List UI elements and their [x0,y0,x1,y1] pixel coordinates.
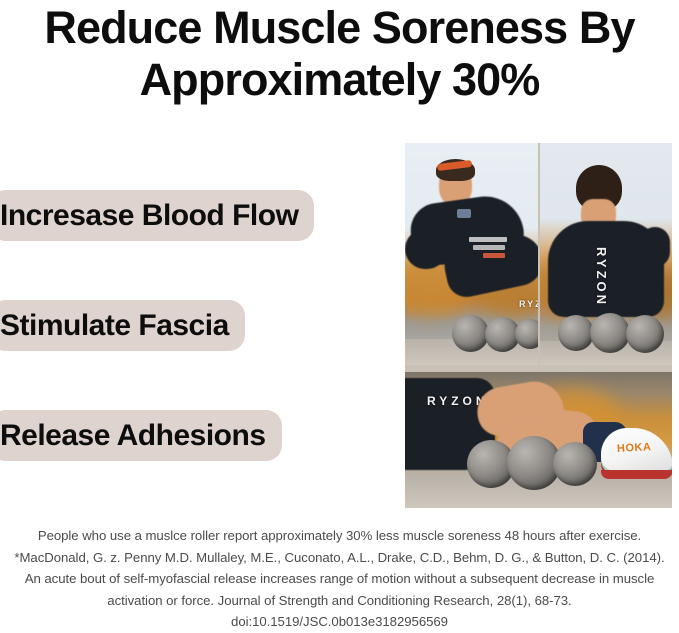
shoe-sole [601,470,672,479]
athlete-arm [405,229,447,269]
kit-sponsor-text [483,253,505,258]
collage-brand-text: RYZON [594,247,609,307]
roller-ball [452,315,489,352]
roller-ball [626,315,664,353]
photo-collage: RYZ RYZON RYZON [405,143,672,508]
roller-ball [515,319,538,349]
page-title: Reduce Muscle Soreness By Approximately … [0,2,679,106]
kit-logo [457,209,471,218]
athlete-shoulder [640,227,670,267]
shoe-brand-text: HOKA [617,441,654,455]
benefit-pill-stimulate-fascia: Stimulate Fascia [0,300,245,351]
collage-photo-athlete-calf-roller-shoe: RYZON HOKA [405,372,672,508]
roller-ball [590,313,630,353]
kit-sponsor-text [469,237,507,242]
benefit-pill-label: Incresase Blood Flow [0,199,298,233]
roller-ball [558,315,594,351]
collage-brand-text: RYZ [519,299,538,309]
benefit-pill-label: Stimulate Fascia [0,309,229,343]
kit-sponsor-text [473,245,505,250]
benefit-pill-label: Release Adhesions [0,419,266,453]
collage-photo-athlete-back-upper-back-roller: RYZON [540,143,672,365]
citation-footnote: People who use a muslce roller report ap… [14,525,665,633]
benefit-pill-release-adhesions: Release Adhesions [0,410,282,461]
collage-photo-athlete-side-plank-roller: RYZ [405,143,538,365]
benefit-pill-increase-blood-flow: Incresase Blood Flow [0,190,314,241]
roller-ball [553,442,597,486]
